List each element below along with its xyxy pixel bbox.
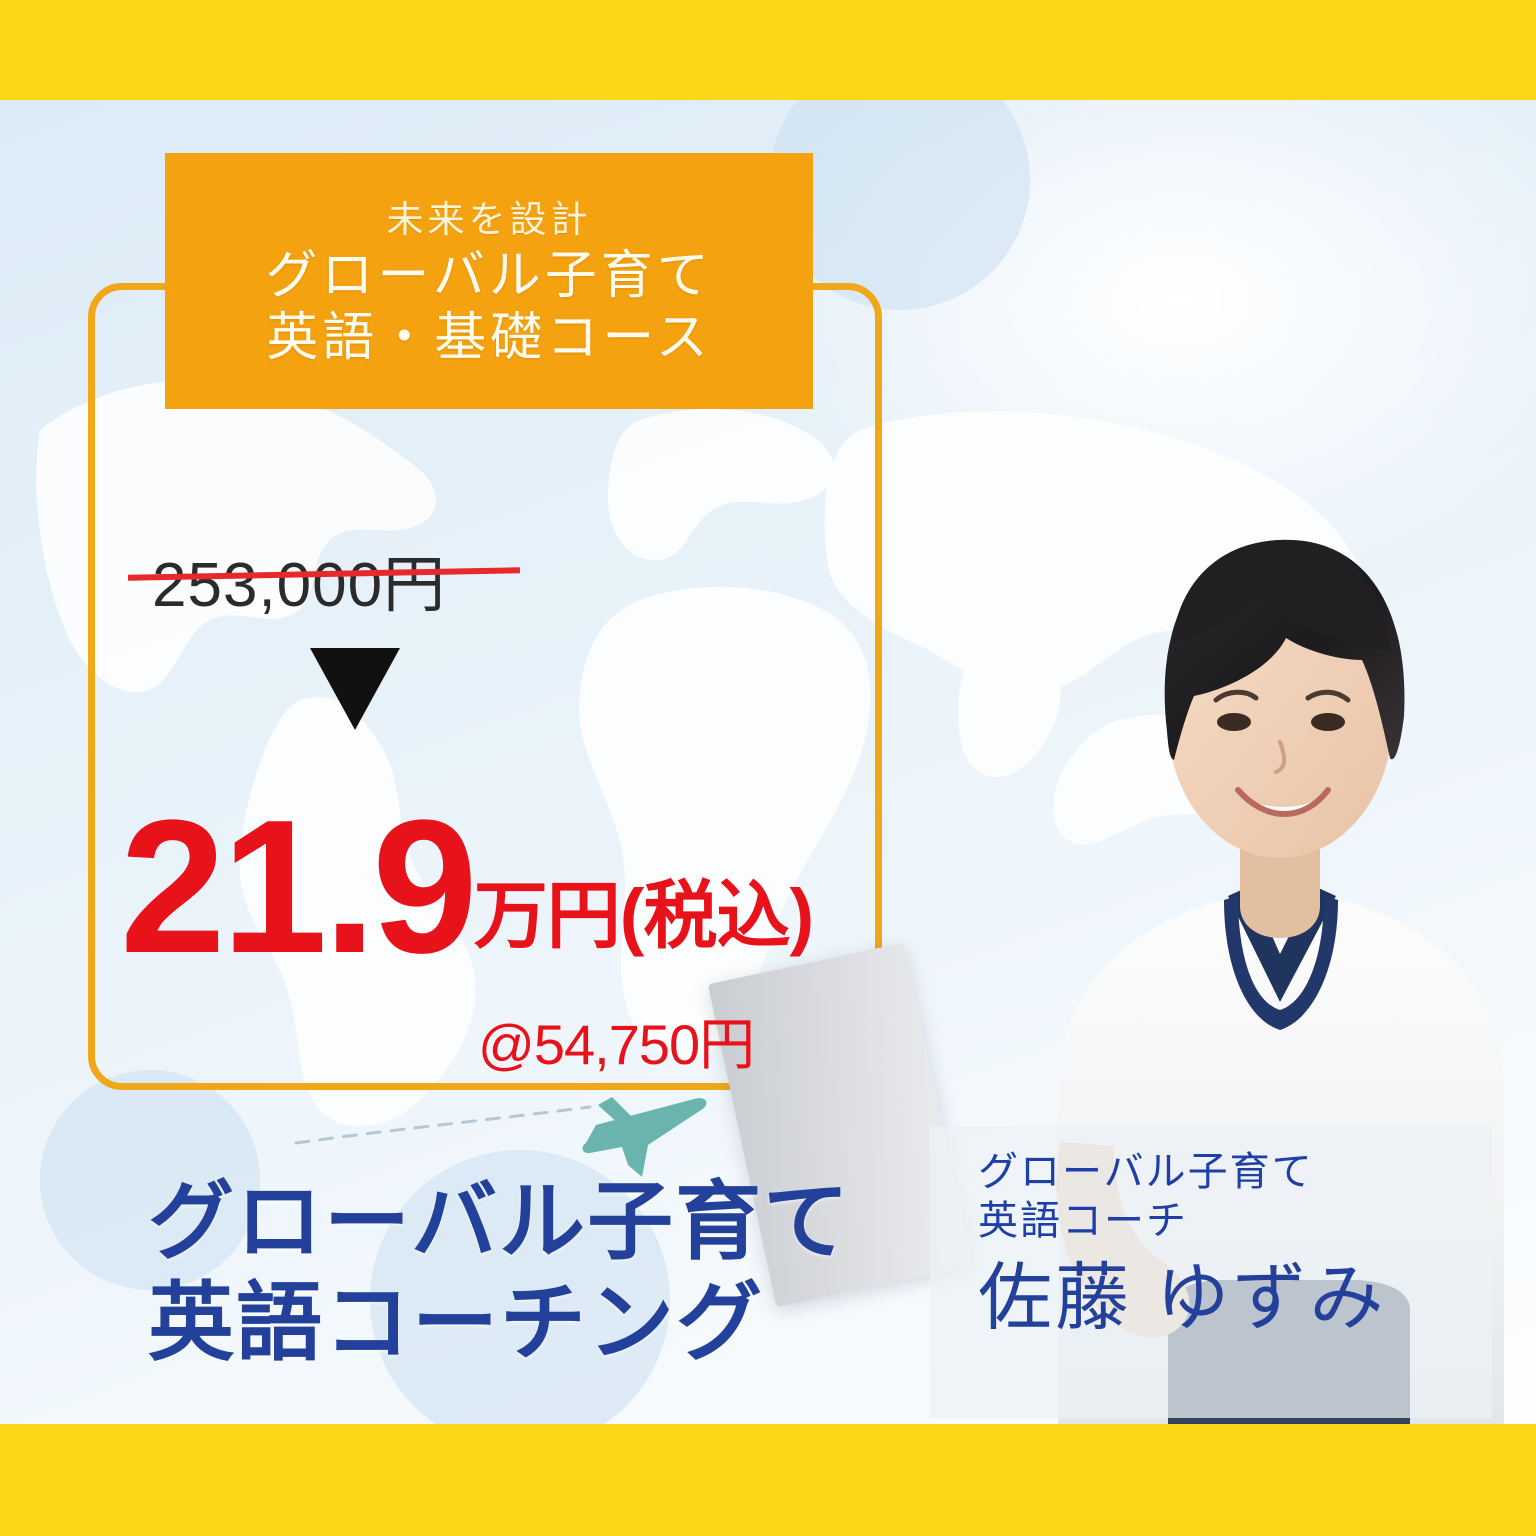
headline-line-2: 英語・基礎コース xyxy=(266,308,711,369)
airplane-icon xyxy=(583,1097,707,1177)
coach-role-line-2: 英語コーチ xyxy=(978,1197,1492,1246)
top-yellow-band xyxy=(0,0,1536,100)
brand-title: グローバル子育て 英語コーチング xyxy=(148,1172,851,1375)
headline-box: 未来を設計 グローバル子育て 英語・基礎コース xyxy=(165,153,813,409)
dashed-flight-path xyxy=(296,1107,590,1143)
brand-title-line-1: グローバル子育て xyxy=(148,1172,851,1273)
price-unit: 万円(税込) xyxy=(474,879,813,969)
price-amount: 21.9 xyxy=(120,806,474,969)
promo-poster: 未来を設計 グローバル子育て 英語・基礎コース 253,000円 21.9 万円… xyxy=(0,0,1536,1536)
price-installment: @54,750円 xyxy=(478,1000,754,1081)
down-triangle-icon xyxy=(310,648,400,730)
headline-eyebrow: 未来を設計 xyxy=(387,199,592,240)
coach-name: 佐藤 ゆずみ xyxy=(978,1256,1492,1340)
coach-name-panel: グローバル子育て 英語コーチ 佐藤 ゆずみ xyxy=(930,1126,1492,1418)
headline-line-1: グローバル子育て xyxy=(265,246,712,307)
bottom-yellow-band xyxy=(0,1424,1536,1536)
brand-title-line-2: 英語コーチング xyxy=(148,1273,851,1374)
new-price: 21.9 万円(税込) xyxy=(120,806,813,969)
coach-role-line-1: グローバル子育て xyxy=(978,1148,1492,1197)
